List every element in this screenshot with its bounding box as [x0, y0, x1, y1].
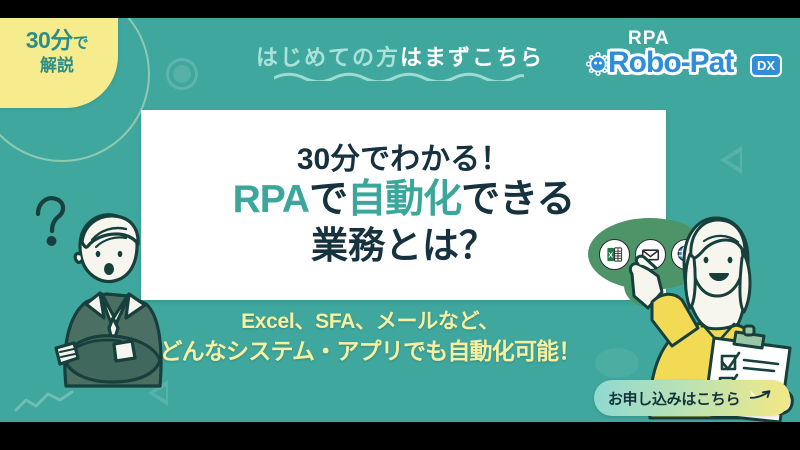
title-line-1: 30分でわかる！: [297, 143, 510, 176]
subtitle-line-2: どんなシステム・アプリでも自動化可能！: [120, 336, 620, 367]
cta-label: お申し込みはこちら: [608, 388, 740, 409]
sparkle-arrow-icon: [748, 387, 776, 409]
title-tail-dekiru: できる: [461, 178, 574, 221]
title-particle-de: で: [309, 178, 347, 221]
subtitle-line-1: Excel、SFA、メールなど、: [120, 308, 620, 336]
header-accent-text: はじめての方: [256, 45, 400, 70]
triangle-outline-decoration-right: [720, 146, 742, 174]
logo-dx-suffix: DX: [750, 54, 782, 77]
letterbox-bar-top: [0, 0, 800, 18]
title-accent-rpa: RPA: [233, 178, 309, 221]
robo-pat-logo: RPA Robo-Pat DX: [584, 28, 784, 90]
letterbox-bar-bottom: [0, 422, 800, 450]
apply-cta-button[interactable]: お申し込みはこちら: [594, 380, 790, 416]
subtitle-block: Excel、SFA、メールなど、 どんなシステム・アプリでも自動化可能！: [120, 308, 620, 367]
header-text-wrap: はじめての方はまずこちら: [256, 40, 544, 72]
header-white-text: はまずこちら: [400, 45, 544, 70]
video-thumbnail-stage: 30分で 解説 はじめての方はまずこちら: [0, 0, 800, 450]
wave-underline-icon: [274, 72, 524, 81]
title-card: 30分でわかる！ RPAで自動化できる 業務とは？: [141, 110, 666, 300]
title-accent-automation: 自動化: [347, 178, 461, 221]
title-line-2: RPAで自動化できる: [233, 178, 575, 223]
robot-head-icon: [586, 52, 610, 76]
svg-text:X: X: [608, 250, 613, 259]
confused-businessman-illustration: [8, 168, 173, 422]
title-line-3: 業務とは？: [311, 225, 496, 268]
slide-canvas: 30分で 解説 はじめての方はまずこちら: [0, 18, 800, 422]
logo-product-name: Robo-Pat: [608, 46, 733, 80]
